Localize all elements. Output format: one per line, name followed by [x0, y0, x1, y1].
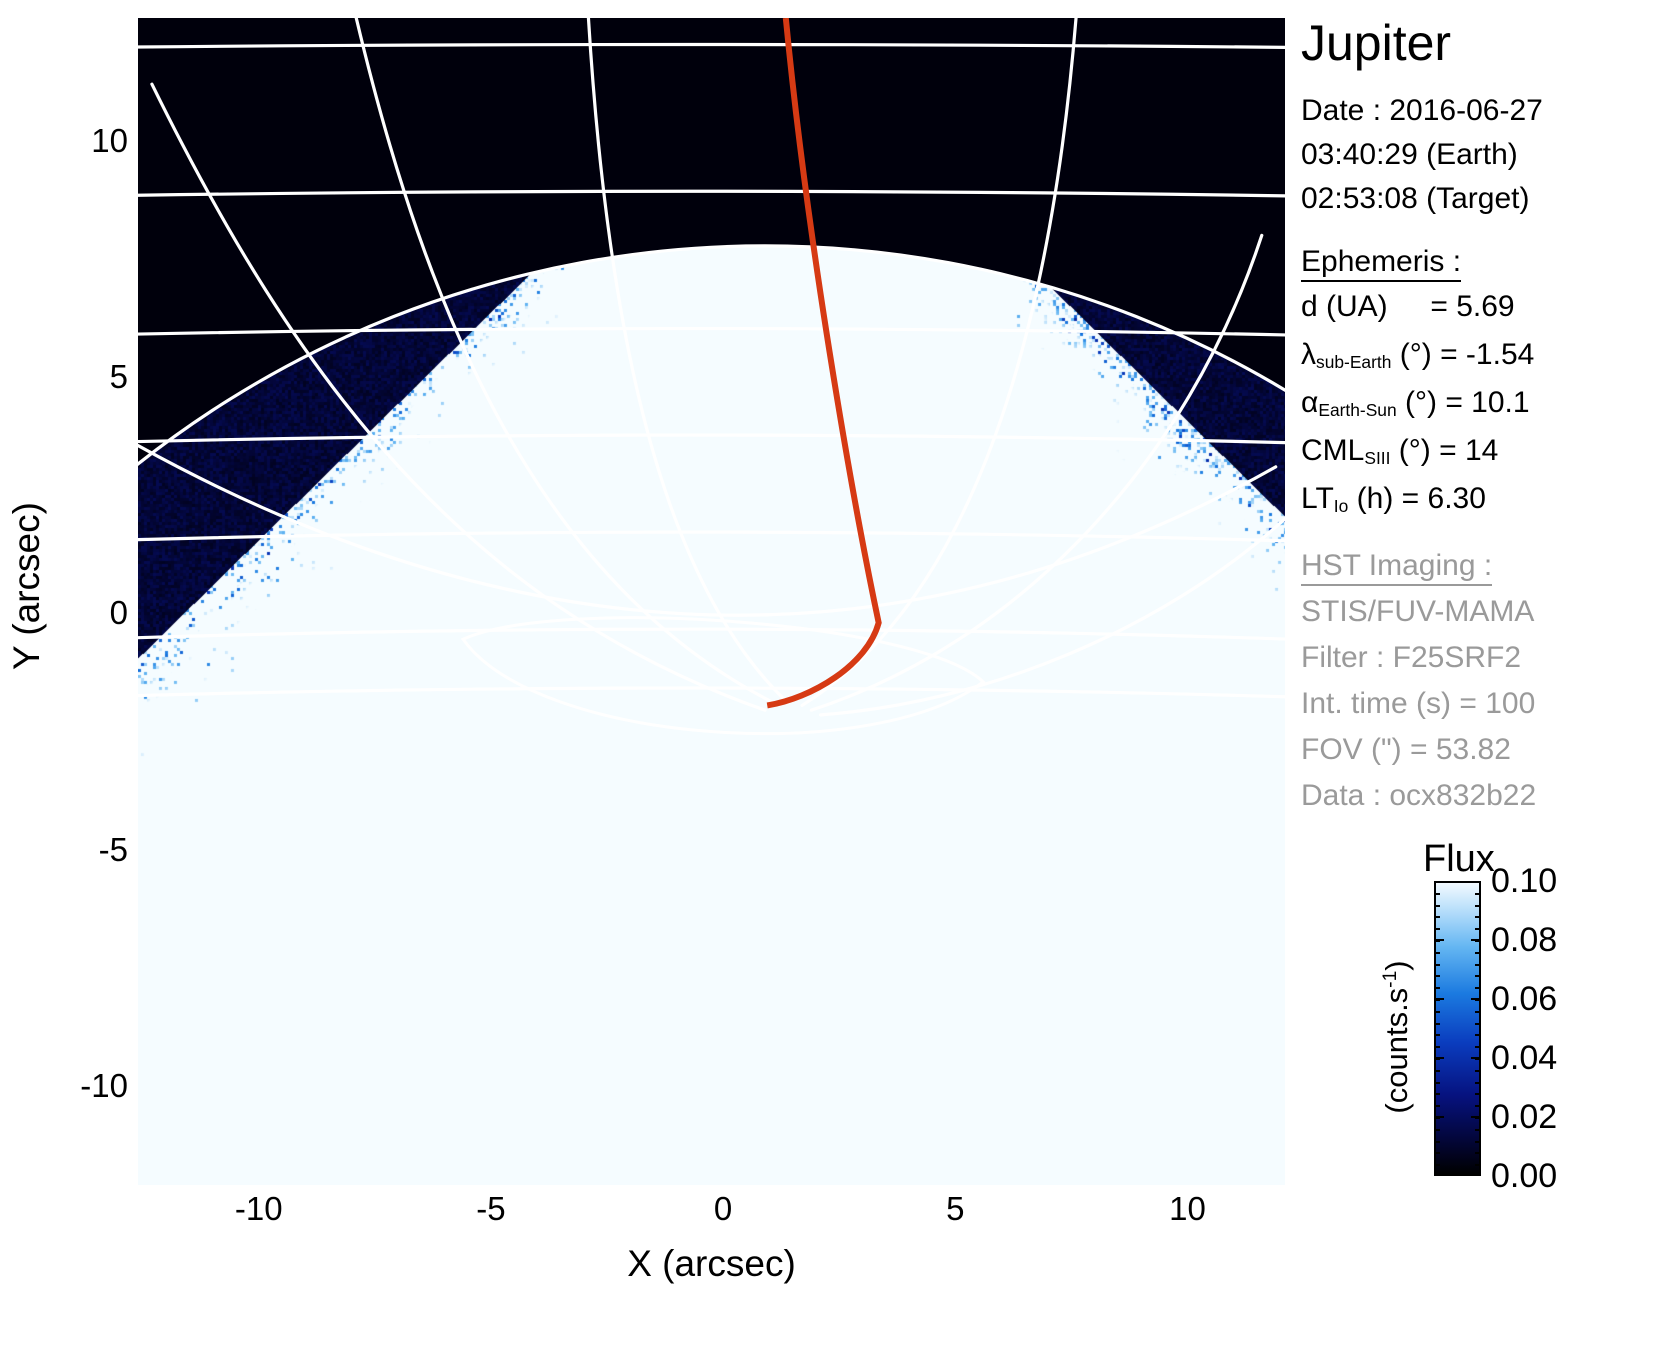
colorbar-minor-tick	[1475, 999, 1481, 1001]
colorbar-minor-tick	[1434, 975, 1440, 977]
colorbar-minor-tick	[1475, 1141, 1481, 1143]
colorbar-tick-label: 0.04	[1491, 1041, 1557, 1075]
graticule-line	[152, 84, 765, 710]
x-tick-label: 5	[946, 1192, 964, 1225]
ephemeris-value-io-local-time: = 6.30	[1402, 482, 1486, 515]
graticule-line	[802, 18, 1076, 705]
ephemeris-heading: Ephemeris :	[1301, 247, 1461, 282]
y-tick-label: -5	[99, 833, 128, 866]
colorbar-minor-tick	[1434, 1105, 1440, 1107]
plot-area	[138, 18, 1285, 1185]
colorbar-minor-tick	[1475, 1011, 1481, 1013]
colorbar-minor-tick	[1475, 1082, 1481, 1084]
colorbar-minor-tick	[1434, 1152, 1440, 1154]
colorbar-tick-mark	[1434, 881, 1444, 883]
instrument-integration-time: Int. time (s) = 100	[1301, 689, 1535, 719]
colorbar-minor-tick	[1475, 952, 1481, 954]
colorbar-minor-tick	[1475, 1105, 1481, 1107]
info-panel: Jupiter Date : 2016-06-27 03:40:29 (Eart…	[1297, 0, 1677, 1367]
unit-hour: (h)	[1357, 482, 1394, 515]
colorbar-tick-mark	[1471, 881, 1481, 883]
colorbar-minor-tick	[1434, 952, 1440, 954]
colorbar-minor-tick	[1475, 1046, 1481, 1048]
lt-symbol: LT	[1301, 482, 1334, 515]
observation-time-earth: 03:40:29 (Earth)	[1301, 140, 1518, 170]
graticule-line	[138, 532, 1285, 541]
colorbar-minor-tick	[1434, 999, 1440, 1001]
colorbar-minor-tick	[1475, 1164, 1481, 1166]
ephemeris-row-phase-angle: αEarth-Sun (°) = 10.1	[1301, 388, 1530, 418]
colorbar-minor-tick	[1475, 1093, 1481, 1095]
colorbar-minor-tick	[1434, 1082, 1440, 1084]
ephemeris-row-sub-earth-lat: λsub-Earth (°) = -1.54	[1301, 340, 1534, 370]
colorbar-minor-tick	[1434, 1023, 1440, 1025]
instrument-heading: HST Imaging :	[1301, 551, 1492, 586]
colorbar-tick-label: 0.00	[1491, 1159, 1557, 1193]
colorbar-minor-tick	[1475, 905, 1481, 907]
ephemeris-value-sub-earth-lat: = -1.54	[1440, 338, 1534, 371]
ephemeris-label-distance: d (UA)	[1301, 290, 1388, 323]
observation-date: Date : 2016-06-27	[1301, 96, 1543, 126]
ephemeris-sub-earth-sun: Earth-Sun	[1318, 400, 1396, 420]
colorbar-tick-label: 0.02	[1491, 1100, 1557, 1134]
graticule-line	[588, 18, 788, 703]
colorbar-minor-tick	[1475, 928, 1481, 930]
colorbar-ticks	[1434, 881, 1481, 1176]
ephemeris-sub-sub-earth: sub-Earth	[1316, 352, 1391, 372]
colorbar-tick-mark	[1471, 1174, 1481, 1176]
colorbar-minor-tick	[1434, 1164, 1440, 1166]
instrument-dataset-id: Data : ocx832b22	[1301, 781, 1536, 811]
colorbar-minor-tick	[1434, 1034, 1440, 1036]
x-axis-title: X (arcsec)	[138, 1243, 1285, 1285]
observation-time-target: 02:53:08 (Target)	[1301, 184, 1529, 214]
alpha-symbol: α	[1301, 386, 1318, 419]
graticule-line	[821, 519, 1285, 715]
graticule-line	[138, 435, 1285, 443]
colorbar-unit-exponent: -1	[1380, 971, 1401, 988]
colorbar-minor-tick	[1434, 1046, 1440, 1048]
colorbar-minor-tick	[1475, 987, 1481, 989]
colorbar-unit-label: (counts.s-1)	[1379, 887, 1415, 1187]
y-tick-label: 0	[110, 596, 128, 629]
graticule-overlay	[138, 18, 1285, 1185]
colorbar-minor-tick	[1434, 1058, 1440, 1060]
colorbar-minor-tick	[1475, 1070, 1481, 1072]
colorbar-minor-tick	[1434, 905, 1440, 907]
instrument-filter: Filter : F25SRF2	[1301, 643, 1521, 673]
cml-symbol: CML	[1301, 434, 1364, 467]
colorbar-minor-tick	[1434, 1117, 1440, 1119]
colorbar-minor-tick	[1434, 964, 1440, 966]
colorbar-minor-tick	[1475, 1152, 1481, 1154]
x-tick-label: 10	[1169, 1192, 1206, 1225]
colorbar-minor-tick	[1434, 1093, 1440, 1095]
ephemeris-row-distance: d (UA) = 5.69	[1301, 292, 1515, 322]
ephemeris-row-cml: CMLSIII (°) = 14	[1301, 436, 1498, 466]
colorbar-unit-close: )	[1379, 960, 1414, 970]
ephemeris-value-cml: = 14	[1439, 434, 1498, 467]
ephemeris-row-io-local-time: LTIo (h) = 6.30	[1301, 484, 1486, 514]
unit-degree: (°)	[1399, 434, 1431, 467]
meridian-line	[767, 18, 878, 705]
instrument-detector: STIS/FUV-MAMA	[1301, 597, 1534, 627]
colorbar-minor-tick	[1475, 916, 1481, 918]
instrument-fov: FOV (") = 53.82	[1301, 735, 1511, 765]
colorbar-minor-tick	[1475, 964, 1481, 966]
colorbar-minor-tick	[1434, 893, 1440, 895]
colorbar-minor-tick	[1475, 1058, 1481, 1060]
colorbar-tick-label: 0.10	[1491, 864, 1557, 898]
colorbar-minor-tick	[1475, 1129, 1481, 1131]
page-title: Jupiter	[1301, 14, 1451, 72]
colorbar-minor-tick	[1434, 1129, 1440, 1131]
ephemeris-sub-io: Io	[1334, 496, 1349, 516]
colorbar-minor-tick	[1475, 1034, 1481, 1036]
colorbar-minor-tick	[1475, 893, 1481, 895]
graticule-line	[463, 618, 983, 734]
unit-degree: (°)	[1405, 386, 1437, 419]
ephemeris-value-phase-angle: = 10.1	[1445, 386, 1529, 419]
x-tick-label: -5	[476, 1192, 505, 1225]
ephemeris-value-distance: = 5.69	[1430, 290, 1514, 323]
colorbar-minor-tick	[1434, 916, 1440, 918]
colorbar-minor-tick	[1434, 1011, 1440, 1013]
graticule-line	[138, 191, 1285, 196]
colorbar-minor-tick	[1434, 1141, 1440, 1143]
colorbar-minor-tick	[1434, 1070, 1440, 1072]
colorbar-minor-tick	[1434, 987, 1440, 989]
y-tick-label: 5	[110, 360, 128, 393]
colorbar-minor-tick	[1475, 1023, 1481, 1025]
colorbar-tick-label: 0.08	[1491, 923, 1557, 957]
ephemeris-sub-siii: SIII	[1364, 448, 1390, 468]
colorbar-minor-tick	[1475, 1117, 1481, 1119]
colorbar-minor-tick	[1475, 975, 1481, 977]
y-tick-label: 10	[91, 124, 128, 157]
graticule-line	[138, 44, 1285, 47]
unit-degree: (°)	[1400, 338, 1432, 371]
colorbar-unit-text: (counts.s	[1379, 988, 1414, 1114]
graticule-line	[138, 329, 1285, 335]
graticule-line	[138, 246, 1285, 1185]
y-tick-label: -10	[80, 1069, 128, 1102]
colorbar-title: Flux	[1423, 838, 1495, 881]
colorbar-tick-mark	[1434, 1174, 1444, 1176]
colorbar-minor-tick	[1434, 940, 1440, 942]
x-tick-label: 0	[714, 1192, 732, 1225]
latitude-longitude-grid	[138, 18, 1285, 1185]
x-tick-label: -10	[235, 1192, 283, 1225]
colorbar-minor-tick	[1434, 928, 1440, 930]
y-axis-title: Y (arcsec)	[6, 366, 48, 806]
colorbar-minor-tick	[1475, 940, 1481, 942]
lambda-symbol: λ	[1301, 338, 1316, 371]
colorbar-tick-label: 0.06	[1491, 982, 1557, 1016]
